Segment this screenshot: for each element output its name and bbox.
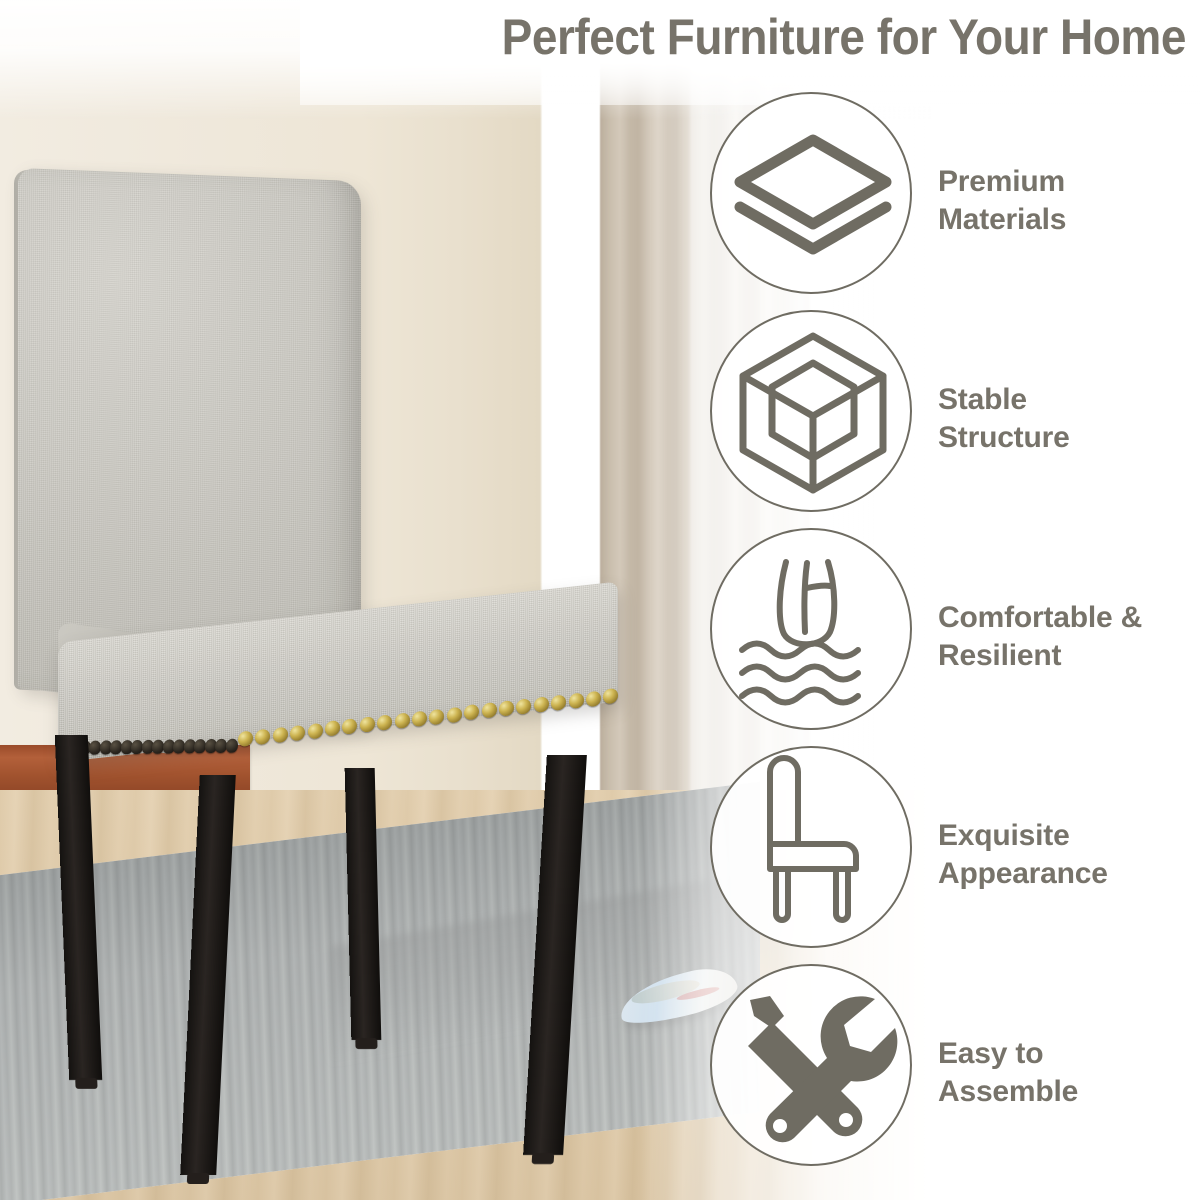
feature-item-easy-to-assemble[interactable]: Easy to Assemble [710,964,1200,1182]
nailhead-stud [290,724,305,741]
nailhead-stud [464,704,479,721]
dining-chair [0,0,700,1200]
feature-label-line: Resilient [938,637,1200,675]
chair-leg [55,735,102,1080]
feature-item-premium-materials[interactable]: Premium Materials [710,92,1200,310]
nailhead-stud [447,706,462,723]
nailhead-stud [273,726,288,743]
nailhead-stud [412,710,427,727]
nailhead-stud [586,690,601,707]
feature-item-exquisite-appearance[interactable]: Exquisite Appearance [710,746,1200,964]
feature-label: Easy to Assemble [938,1035,1200,1111]
product-feature-banner: Perfect Furniture for Your Home Premium … [0,0,1200,1200]
nailhead-stud [603,688,618,705]
nailhead-stud [360,716,375,733]
nailhead-stud [342,718,357,735]
cube-icon [710,310,912,512]
chair-leg [345,768,382,1040]
nailhead-stud [569,692,584,709]
feature-label-line: Exquisite [938,817,1200,855]
layers-icon [710,92,912,294]
page-title: Perfect Furniture for Your Home [95,8,1186,70]
feature-label: Stable Structure [938,381,1200,457]
chair-leg [523,755,587,1155]
feature-label-line: Materials [938,201,1200,239]
tools-icon [710,964,912,1166]
feature-label: Comfortable & Resilient [938,599,1200,675]
feature-item-comfortable-resilient[interactable]: Comfortable & Resilient [710,528,1200,746]
nailhead-stud [534,696,549,713]
cushion-waves-icon [710,528,912,730]
feature-label-line: Premium [938,163,1200,201]
nailhead-stud [226,738,238,753]
feature-label-line: Appearance [938,855,1200,893]
feature-label-line: Comfortable & [938,599,1200,637]
chair-side-icon [710,746,912,948]
feature-label-line: Stable [938,381,1200,419]
chair-leg [180,775,236,1175]
feature-label: Premium Materials [938,163,1200,239]
nailhead-stud [516,698,531,715]
nailhead-stud [308,722,323,739]
nailhead-stud [395,712,410,729]
nailhead-stud [429,708,444,725]
feature-item-stable-structure[interactable]: Stable Structure [710,310,1200,528]
nailhead-stud [377,714,392,731]
feature-label-line: Assemble [938,1073,1200,1111]
feature-list: Premium Materials Stable Structure [710,92,1200,1182]
feature-label-line: Structure [938,419,1200,457]
feature-label: Exquisite Appearance [938,817,1200,893]
nailhead-stud [551,694,566,711]
nailhead-stud [238,730,253,747]
nailhead-stud [482,702,497,719]
nailhead-stud [499,700,514,717]
nailhead-stud [255,728,270,745]
nailhead-stud [325,720,340,737]
feature-label-line: Easy to [938,1035,1200,1073]
